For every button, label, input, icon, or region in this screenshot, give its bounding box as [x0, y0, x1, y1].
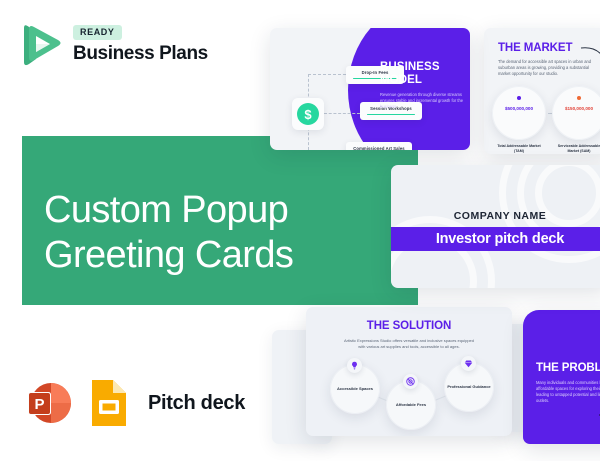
slide-business-model[interactable]: $ Drop-In Fees Session Workshops Commiss…: [270, 28, 470, 150]
tam-dot-icon: [517, 96, 521, 100]
solution-heading: THE SOLUTION: [306, 320, 512, 332]
google-slides-icon: [88, 378, 130, 428]
diamond-icon: [461, 356, 476, 371]
ready-badge: READY: [73, 25, 122, 40]
flow-line-top: [308, 74, 346, 75]
slide-the-problem[interactable]: THE PROBLEM Many individuals and communi…: [523, 310, 600, 444]
metric-circle-sam: $150,000,000: [552, 86, 600, 140]
format-badges: P Pitch deck: [24, 378, 245, 428]
curved-arrow-icon: [580, 44, 600, 66]
problem-body: Many individuals and communities lack ac…: [536, 380, 600, 404]
target-icon: [403, 374, 418, 389]
hero-title-line-2: Greeting Cards: [44, 233, 384, 278]
dollar-sign-badge: $: [292, 98, 324, 130]
lightbulb-icon: [347, 358, 362, 373]
business-model-copy: BUSINESS MODEL Revenue generation throug…: [380, 61, 464, 110]
market-heading: THE MARKET: [498, 42, 572, 54]
tam-value: $500,000,000: [492, 106, 546, 111]
sam-dot-icon: [577, 96, 581, 100]
business-model-heading-line-2: MODEL: [380, 74, 464, 87]
solution-item-label: Affordable Fees: [396, 402, 426, 407]
business-model-body: Revenue generation through diverse strea…: [380, 92, 464, 110]
solution-item-label: Professional Guidance: [447, 384, 490, 389]
investor-company-name: COMPANY NAME: [391, 210, 600, 222]
formats-label: Pitch deck: [148, 392, 245, 415]
powerpoint-icon: P: [24, 378, 74, 428]
play-triangle-logo-icon: [20, 22, 64, 68]
business-model-heading-line-1: BUSINESS: [380, 61, 464, 74]
svg-text:P: P: [34, 396, 44, 413]
poster-canvas: READY Business Plans Custom Popup Greeti…: [0, 0, 600, 461]
flow-line-mid: [324, 113, 360, 114]
hero-title-line-1: Custom Popup: [44, 188, 384, 233]
solution-body: Artistic Expressions Studio offers versa…: [344, 338, 474, 349]
page-title: Custom Popup Greeting Cards: [44, 188, 384, 278]
slide-the-market[interactable]: THE MARKET The demand for accessible art…: [484, 28, 600, 154]
sam-caption: Serviceable Addressable Market (SAM): [552, 144, 600, 154]
bm-node-label: Commissioned Art Sales: [353, 146, 405, 150]
slide-investor-pitch-deck[interactable]: COMPANY NAME Investor pitch deck: [391, 165, 600, 288]
brand-logo: READY Business Plans: [20, 22, 208, 68]
sam-value: $150,000,000: [552, 106, 600, 111]
dollar-sign-icon: $: [297, 103, 319, 125]
metric-circle-tam: $500,000,000: [492, 86, 546, 140]
slide-the-solution[interactable]: THE SOLUTION Artistic Expressions Studio…: [306, 307, 512, 436]
problem-heading: THE PROBLEM: [536, 362, 600, 374]
brand-text: READY Business Plans: [73, 25, 208, 65]
tam-caption: Total Addressable Market (TAM): [492, 144, 546, 154]
bm-node-underline: [367, 114, 415, 115]
bm-node-commissioned-art-sales[interactable]: Commissioned Art Sales: [346, 142, 412, 150]
investor-title-band: Investor pitch deck: [391, 227, 600, 251]
investor-title: Investor pitch deck: [436, 231, 564, 247]
solution-item-label: Accessible Spaces: [337, 386, 373, 391]
brand-name: Business Plans: [73, 43, 208, 65]
